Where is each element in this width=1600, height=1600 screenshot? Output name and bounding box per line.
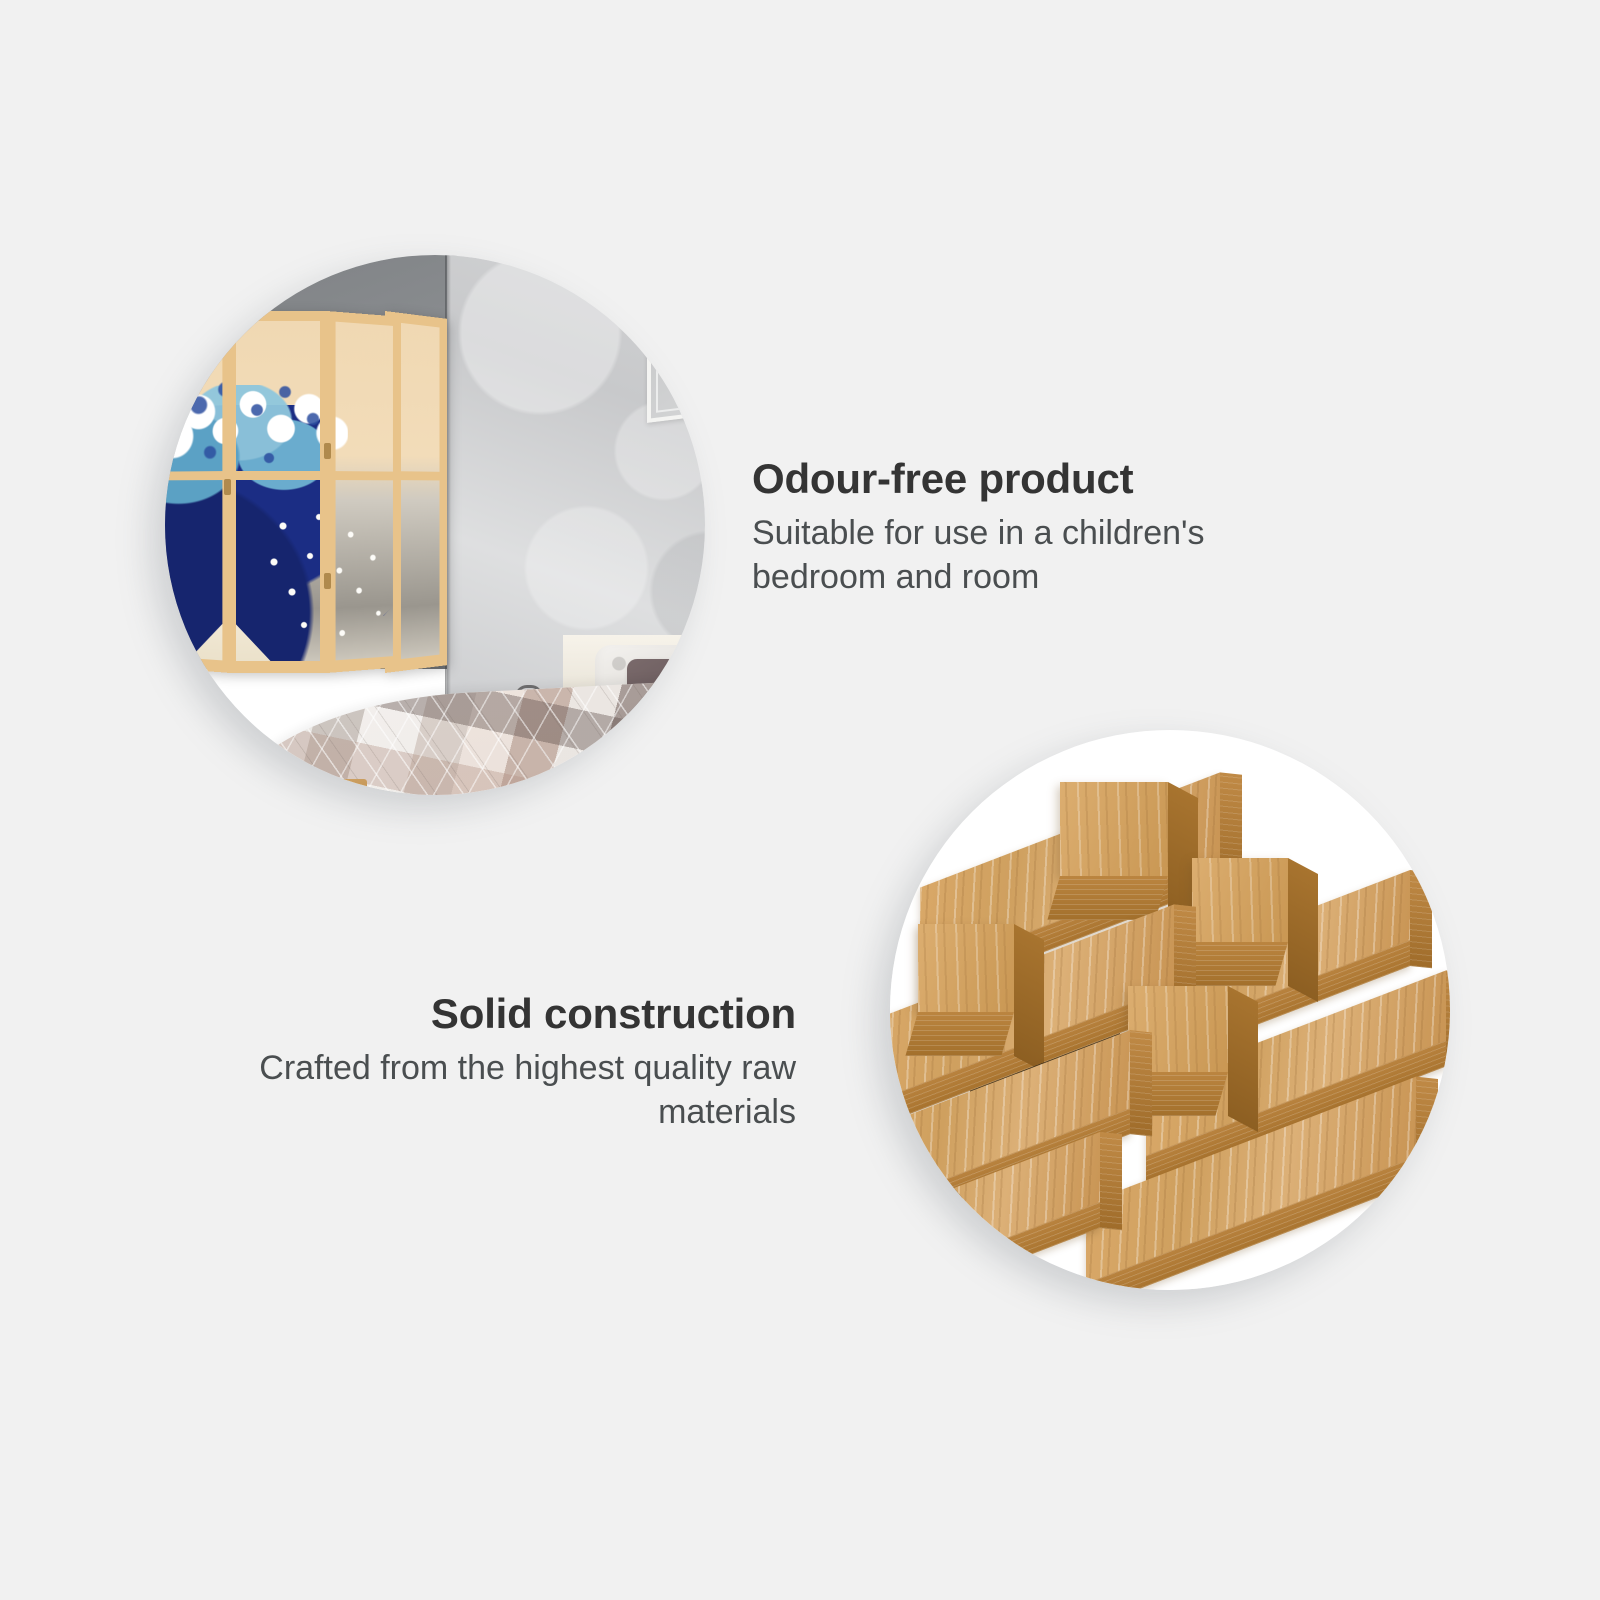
bedroom-room-divider-photo: [165, 255, 705, 795]
infographic-stage: Odour-free product Suitable for use in a…: [0, 0, 1600, 1600]
screen-hinge-3: [324, 573, 331, 589]
bedroom-scene: [165, 255, 705, 795]
bedroom-scene-box: [165, 255, 705, 795]
screen-panel-3: [327, 311, 401, 673]
screen-panel-2: [227, 311, 329, 673]
screen-hinge-1: [224, 479, 231, 495]
timber-scene-box: [890, 730, 1450, 1290]
feature-title-solid-construction: Solid construction: [250, 990, 796, 1037]
timber-photo-inner: [890, 730, 1450, 1290]
great-wave-artwork-panel-1: [165, 311, 231, 673]
timber-block-1: [1060, 782, 1168, 876]
feature-description-odour-free: Suitable for use in a children's bedroom…: [752, 512, 1272, 599]
feature-description-solid-construction: Crafted from the highest quality raw mat…: [250, 1047, 796, 1134]
feature-text-solid-construction: Solid construction Crafted from the high…: [250, 990, 796, 1134]
great-wave-artwork-panel-2: [227, 311, 329, 673]
folding-screen-room-divider: [165, 311, 455, 673]
feature-text-odour-free: Odour-free product Suitable for use in a…: [752, 455, 1272, 599]
feature-title-odour-free: Odour-free product: [752, 455, 1272, 502]
screen-hinge-2: [324, 443, 331, 459]
wall-picture-frame: [647, 319, 705, 423]
timber-block-2: [1192, 858, 1288, 942]
timber-block-3: [918, 924, 1014, 1012]
great-wave-artwork-panel-3: [327, 311, 401, 673]
stacked-timber-photo: [890, 730, 1450, 1290]
timber-scene: [890, 730, 1450, 1290]
bedroom-photo-inner: [165, 255, 705, 795]
screen-panel-1: [165, 311, 231, 673]
purple-book: [206, 770, 310, 795]
